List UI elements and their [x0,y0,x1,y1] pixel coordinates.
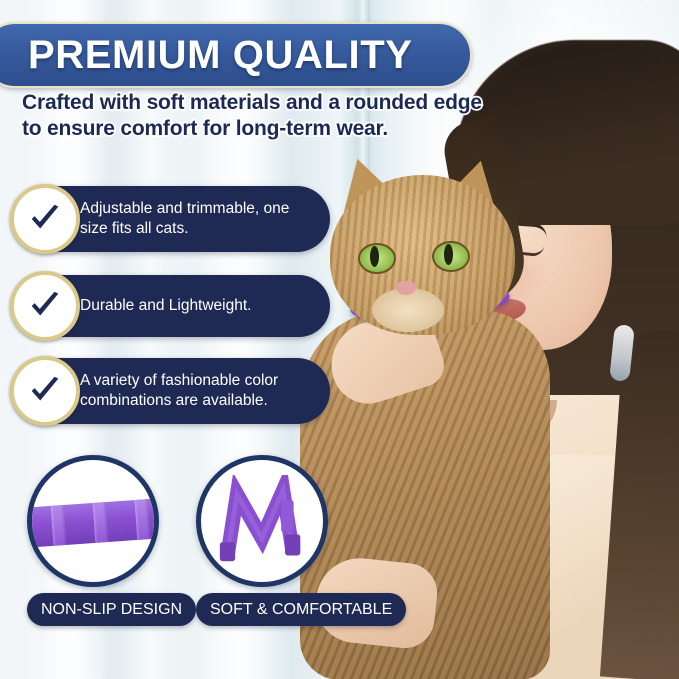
checkmark-icon [10,271,80,341]
feature-item-1-label: Adjustable and trimmable, one size fits … [80,189,330,249]
strap-ridge [93,502,109,543]
feature-item-2-label: Durable and Lightweight. [80,286,267,326]
cat-nose [396,281,416,295]
collar-m-shape-photo [201,460,323,582]
feature-item-1: Adjustable and trimmable, one size fits … [12,186,330,252]
title-banner: PREMIUM QUALITY [0,22,472,88]
badge-non-slip-image [27,455,159,587]
badge-soft-comfortable: SOFT & COMFORTABLE [196,455,406,626]
cat-pupil-left [370,246,379,267]
subtitle-text: Crafted with soft materials and a rounde… [22,90,492,142]
feature-item-3-label: A variety of fashionable color combinati… [80,361,330,421]
feature-item-2: Durable and Lightweight. [12,275,330,337]
badge-soft-comfortable-image [196,455,328,587]
badge-non-slip-label: NON-SLIP DESIGN [27,593,196,626]
feature-item-3: A variety of fashionable color combinati… [12,358,330,424]
strap-ridge [51,505,67,546]
checkmark-icon [10,184,80,254]
checkmark-icon [10,356,80,426]
badge-soft-comfortable-label: SOFT & COMFORTABLE [196,593,406,626]
page-title: PREMIUM QUALITY [28,33,413,78]
collar-strap-photo [27,498,159,548]
infographic-canvas: PREMIUM QUALITY Crafted with soft materi… [0,0,679,679]
badge-non-slip: NON-SLIP DESIGN [27,455,196,626]
cat-pupil-right [444,244,453,265]
strap-ridge [135,499,151,540]
